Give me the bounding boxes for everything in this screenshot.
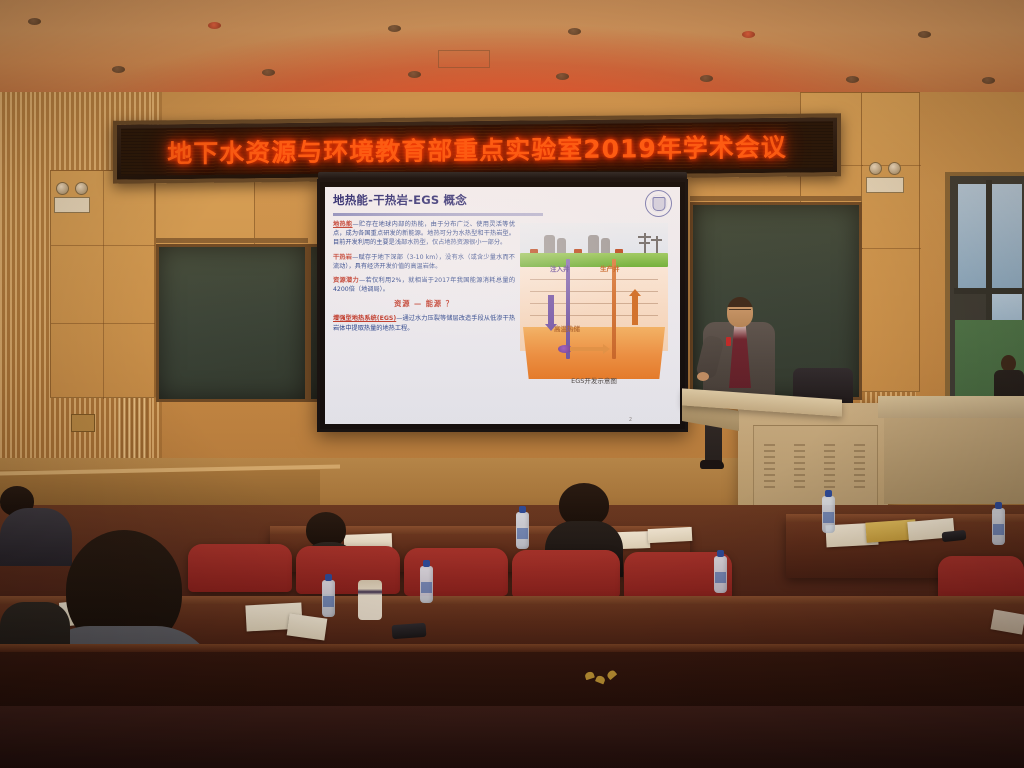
diagram-caption: EGS开发示意图	[514, 375, 674, 385]
ceiling	[0, 0, 1024, 100]
slide-paragraph-keyword: 干热岩	[333, 254, 352, 261]
water-bottle[interactable]	[420, 566, 433, 603]
pylon-icon	[639, 242, 650, 244]
projected-slide: 地热能-干热岩-EGS 概念 地热能—贮存在地球内部的热能，由于分布广泛、使用灵…	[325, 187, 680, 424]
slide-paragraph: 地热能—贮存在地球内部的热能，由于分布广泛、使用灵活等优点，成为各国重点研发的新…	[333, 220, 515, 248]
slide-center-question: 资源 — 能源 ？	[333, 299, 515, 309]
presenter-shoe	[700, 460, 724, 469]
desk-row-front	[0, 648, 1024, 712]
presenter-hand	[697, 372, 709, 381]
university-seal-icon	[645, 190, 672, 217]
ceiling-fixture-icon	[408, 71, 421, 78]
water-bottle[interactable]	[714, 556, 727, 593]
power-plant-icon	[588, 235, 599, 254]
water-bottle[interactable]	[322, 580, 335, 617]
auditorium-chair[interactable]	[296, 546, 400, 594]
ceiling-vent	[438, 50, 490, 68]
slide-paragraph-egs: 增强型地热系统(EGS)—通过水力压裂等储层改造手段从低渗干热岩体中提取热量的地…	[333, 314, 515, 332]
led-banner-text: 地下水资源与环境教育部重点实验室2019年学术会议	[167, 127, 787, 169]
wall-switch[interactable]	[71, 414, 95, 432]
wall-speaker-icon	[75, 182, 88, 195]
slide-title-rule	[333, 213, 543, 216]
diagram-hot-reservoir	[523, 327, 665, 379]
reservoir-label: 高温热储	[554, 323, 580, 333]
ceiling-fixture-icon	[556, 73, 569, 80]
egs-schematic-diagram: 注入井 生产井 高温热储 EGS开发示意图	[514, 223, 674, 395]
ceiling-fixture-icon	[742, 31, 755, 38]
slide-body-text: 地热能—贮存在地球内部的热能，由于分布广泛、使用灵活等优点，成为各国重点研发的新…	[333, 220, 515, 338]
power-plant-icon	[544, 235, 555, 254]
smartphone[interactable]	[392, 623, 427, 639]
power-plant-icon	[557, 238, 566, 254]
glasses-icon	[729, 309, 751, 313]
slide-paragraph-text: —贮存在地球内部的热能，由于分布广泛、使用灵活等优点，成为各国重点研发的新能源。…	[333, 221, 515, 246]
led-banner-panel: 地下水资源与环境教育部重点实验室2019年学术会议	[121, 121, 833, 175]
water-bottle[interactable]	[516, 512, 529, 549]
desk-front-panel	[0, 706, 1024, 768]
lecture-hall-photo: 地下水资源与环境教育部重点实验室2019年学术会议 地热能-干热岩-EGS 概念…	[0, 0, 1024, 768]
slide-paragraph: 资源潜力—若仅利用2%，就相当于2017年我国能源消耗总量的4200倍（地调局）…	[333, 276, 515, 294]
ceiling-fixture-icon	[388, 25, 401, 32]
ceiling-fixture-icon	[700, 75, 713, 82]
wall-speaker-icon	[869, 162, 882, 175]
ceiling-fixture-icon	[918, 31, 931, 38]
slide-paragraph-keyword: 地热能	[333, 221, 353, 228]
water-bottle[interactable]	[992, 508, 1005, 545]
ceiling-fixture-icon	[112, 66, 125, 73]
slide-paragraph-text: —若仅利用2%，就相当于2017年我国能源消耗总量的4200倍（地调局）。	[333, 277, 515, 293]
pylon-icon	[638, 236, 651, 238]
production-well-shape	[612, 259, 616, 359]
slide-title: 地热能-干热岩-EGS 概念	[333, 192, 673, 208]
injection-well-shape	[566, 259, 570, 359]
wall-tile-block	[860, 92, 920, 392]
wall-slat-panel	[0, 92, 34, 492]
door-glass-pane	[992, 184, 1022, 288]
paper-sheet	[648, 527, 693, 543]
chalkboard-left	[156, 244, 308, 402]
pylon-icon	[651, 239, 662, 241]
power-plant-icon	[601, 238, 610, 254]
ceiling-fixture-icon	[846, 76, 859, 83]
slide-paragraph-keyword: 增强型地热系统(EGS)	[333, 315, 396, 322]
ceiling-fixture-icon	[982, 77, 995, 84]
auditorium-chair[interactable]	[512, 550, 620, 598]
production-well-label: 生产井	[600, 263, 620, 273]
desk-surface	[0, 644, 1024, 652]
slide-paragraph: 干热岩—赋存于地下深部（3-10 km），没有水（或含少量水而不流动），具有经济…	[333, 253, 515, 271]
side-desk	[878, 396, 1024, 418]
wall-control-plate[interactable]	[866, 177, 904, 193]
ceiling-fixture-icon	[262, 69, 275, 76]
door-mullion	[954, 288, 1024, 294]
projection-screen: 地热能-干热岩-EGS 概念 地热能—贮存在地球内部的热能，由于分布广泛、使用灵…	[317, 179, 688, 432]
wall-control-plate[interactable]	[54, 197, 90, 213]
production-flow-arrow	[632, 295, 638, 325]
wall-speaker-icon	[56, 182, 69, 195]
ceiling-fixture-icon	[568, 28, 581, 35]
water-bottle[interactable]	[822, 496, 835, 533]
diagram-ground	[520, 253, 668, 267]
tumbler-cup[interactable]	[358, 580, 382, 620]
ceiling-fixture-icon	[208, 22, 221, 29]
side-desk-body	[884, 414, 1024, 504]
injection-well-label: 注入井	[550, 263, 570, 273]
slide-paragraph-text: —赋存于地下深部（3-10 km），没有水（或含少量水而不流动），具有经济开发价…	[333, 254, 515, 270]
ceiling-fixture-icon	[28, 18, 41, 25]
presenter-badge	[726, 337, 731, 346]
slide-page-number: 2	[629, 417, 632, 423]
door-glass-pane	[958, 184, 986, 288]
slide-paragraph-keyword: 资源潜力	[333, 277, 359, 284]
injection-flow-arrow	[548, 295, 554, 325]
wall-speaker-icon	[888, 162, 901, 175]
heat-flow-arrow	[570, 347, 604, 351]
